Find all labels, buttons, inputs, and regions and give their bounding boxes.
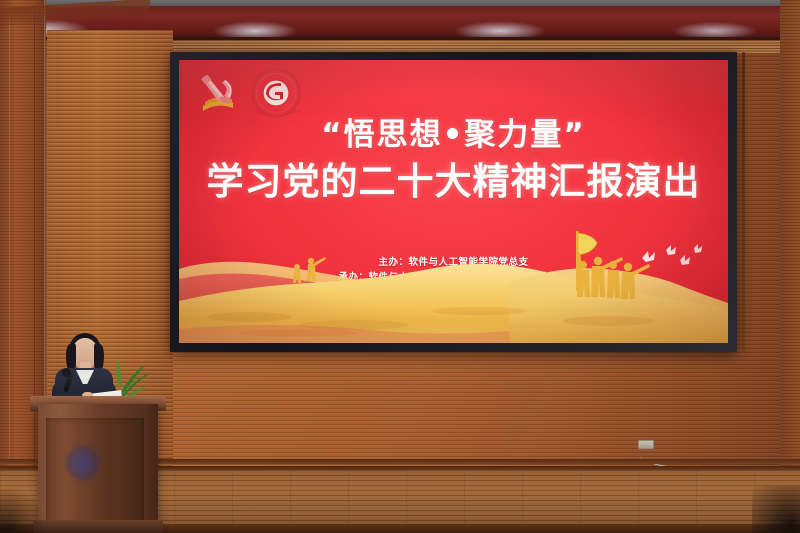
mountain-ridge-artwork xyxy=(179,225,728,343)
left-pillar-trim xyxy=(9,12,35,533)
led-screen-bezel: \u00b7 \u00b7 \u00b7 \u00b7 \u00b7 “悟思想•… xyxy=(170,52,737,352)
right-pillar xyxy=(780,0,800,533)
title-line-2: 学习党的二十大精神汇报演出 xyxy=(179,160,728,204)
title-line-1: “悟思想•聚力量” xyxy=(179,118,728,154)
podium-base xyxy=(33,520,163,533)
podium-emblem-icon xyxy=(66,446,100,480)
party-emblem-icon xyxy=(195,72,240,114)
screen-title-block: “悟思想•聚力量” 学习党的二十大精神汇报演出 xyxy=(179,118,728,204)
school-seal-icon: \u00b7 \u00b7 \u00b7 \u00b7 \u00b7 xyxy=(251,68,301,118)
microphone-head xyxy=(62,368,71,377)
svg-text:\u00b7 \u00b7 \u00b7 \u00b7 \u: \u00b7 \u00b7 \u00b7 \u00b7 \u00b7 xyxy=(251,109,301,115)
right-wall-seam xyxy=(742,52,745,352)
auditorium-photo: \u00b7 \u00b7 \u00b7 \u00b7 \u00b7 “悟思想•… xyxy=(0,0,800,533)
left-shadow xyxy=(0,488,44,533)
right-shadow xyxy=(752,486,800,533)
led-screen: \u00b7 \u00b7 \u00b7 \u00b7 \u00b7 “悟思想•… xyxy=(179,60,728,343)
